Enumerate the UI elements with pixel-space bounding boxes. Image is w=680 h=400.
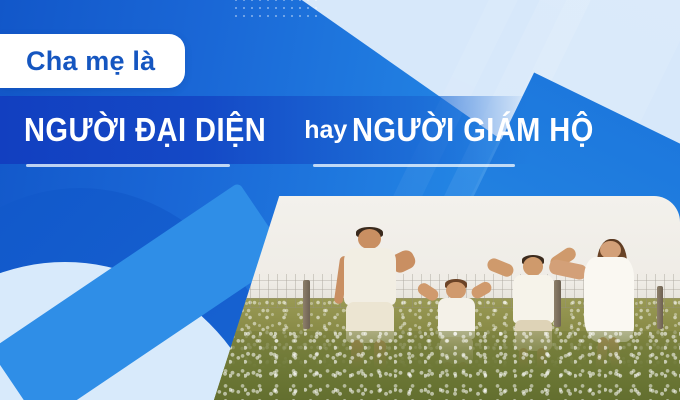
badge-pill: Cha mẹ là	[0, 34, 185, 88]
photo-fence-post	[303, 280, 310, 329]
older-boy-shirt	[513, 275, 554, 323]
dot-grid-icon	[232, 0, 320, 22]
father-shirt	[344, 248, 396, 305]
photo-foreground-grass	[214, 331, 680, 400]
headline: NGƯỜI ĐẠI DIỆN hay NGƯỜI GIÁM HỘ	[24, 100, 644, 160]
badge-label: Cha mẹ là	[26, 46, 155, 77]
hero-photo	[214, 196, 680, 400]
headline-underline-2	[313, 164, 515, 167]
headline-connector: hay	[304, 116, 347, 145]
young-boy-head	[446, 282, 466, 300]
banner-hero: NGƯỜI ĐẠI DIỆN hay NGƯỜI GIÁM HỘ Cha mẹ …	[0, 0, 680, 400]
older-boy-head	[523, 257, 544, 276]
photo-fence-post	[657, 286, 663, 329]
mother-dress	[584, 257, 634, 342]
headline-part-2: NGƯỜI GIÁM HỘ	[352, 111, 594, 149]
headline-part-1: NGƯỜI ĐẠI DIỆN	[24, 111, 266, 149]
headline-underline-1	[26, 164, 230, 167]
photo-sky-and-field	[214, 196, 680, 400]
mother-head	[600, 241, 621, 259]
father-head	[358, 229, 382, 250]
